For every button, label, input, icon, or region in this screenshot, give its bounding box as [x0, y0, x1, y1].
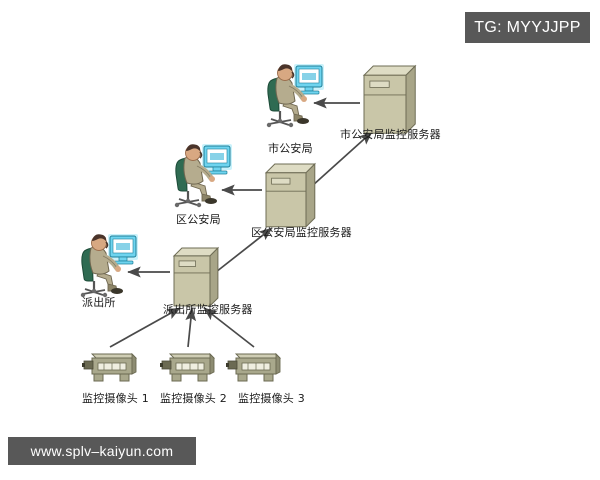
server-icon	[266, 164, 315, 227]
camera-icon	[226, 350, 282, 384]
site-watermark-badge: www.splv–kaiyun.com	[8, 437, 196, 465]
node-label-district-psb-server: 区公安局监控服务器	[251, 224, 352, 240]
node-label-city-psb-operator: 市公安局	[268, 140, 313, 156]
node-label-police-station-operator: 派出所	[82, 294, 116, 310]
node-district-psb-operator	[166, 138, 236, 210]
node-police-station-operator	[72, 228, 142, 300]
tg-watermark-badge: TG: MYYJJPP	[465, 12, 590, 43]
node-police-station-server	[174, 248, 210, 298]
node-city-psb-operator	[258, 58, 328, 130]
person-workstation-icon	[166, 138, 236, 210]
node-label-camera-2: 监控摄像头 2	[160, 390, 227, 406]
server-icon	[174, 248, 218, 306]
node-camera-2	[160, 350, 216, 384]
node-label-city-psb-server: 市公安局监控服务器	[340, 126, 441, 142]
node-label-district-psb-operator: 区公安局	[176, 211, 221, 227]
person-workstation-icon	[72, 228, 142, 300]
camera-icon	[160, 350, 216, 384]
camera-icon	[82, 350, 138, 384]
node-camera-1	[82, 350, 138, 384]
person-workstation-icon	[258, 58, 328, 130]
node-label-camera-3: 监控摄像头 3	[238, 390, 305, 406]
diagram-canvas: 市公安局市公安局监控服务器区公安局区公安局监控服务器派出所派出所监控服务器监控摄…	[0, 0, 600, 480]
server-icon	[364, 66, 415, 133]
node-city-psb-server	[364, 66, 406, 124]
node-district-psb-server	[266, 164, 306, 218]
node-label-camera-1: 监控摄像头 1	[82, 390, 149, 406]
node-camera-3	[226, 350, 282, 384]
node-label-police-station-server: 派出所监控服务器	[163, 301, 253, 317]
